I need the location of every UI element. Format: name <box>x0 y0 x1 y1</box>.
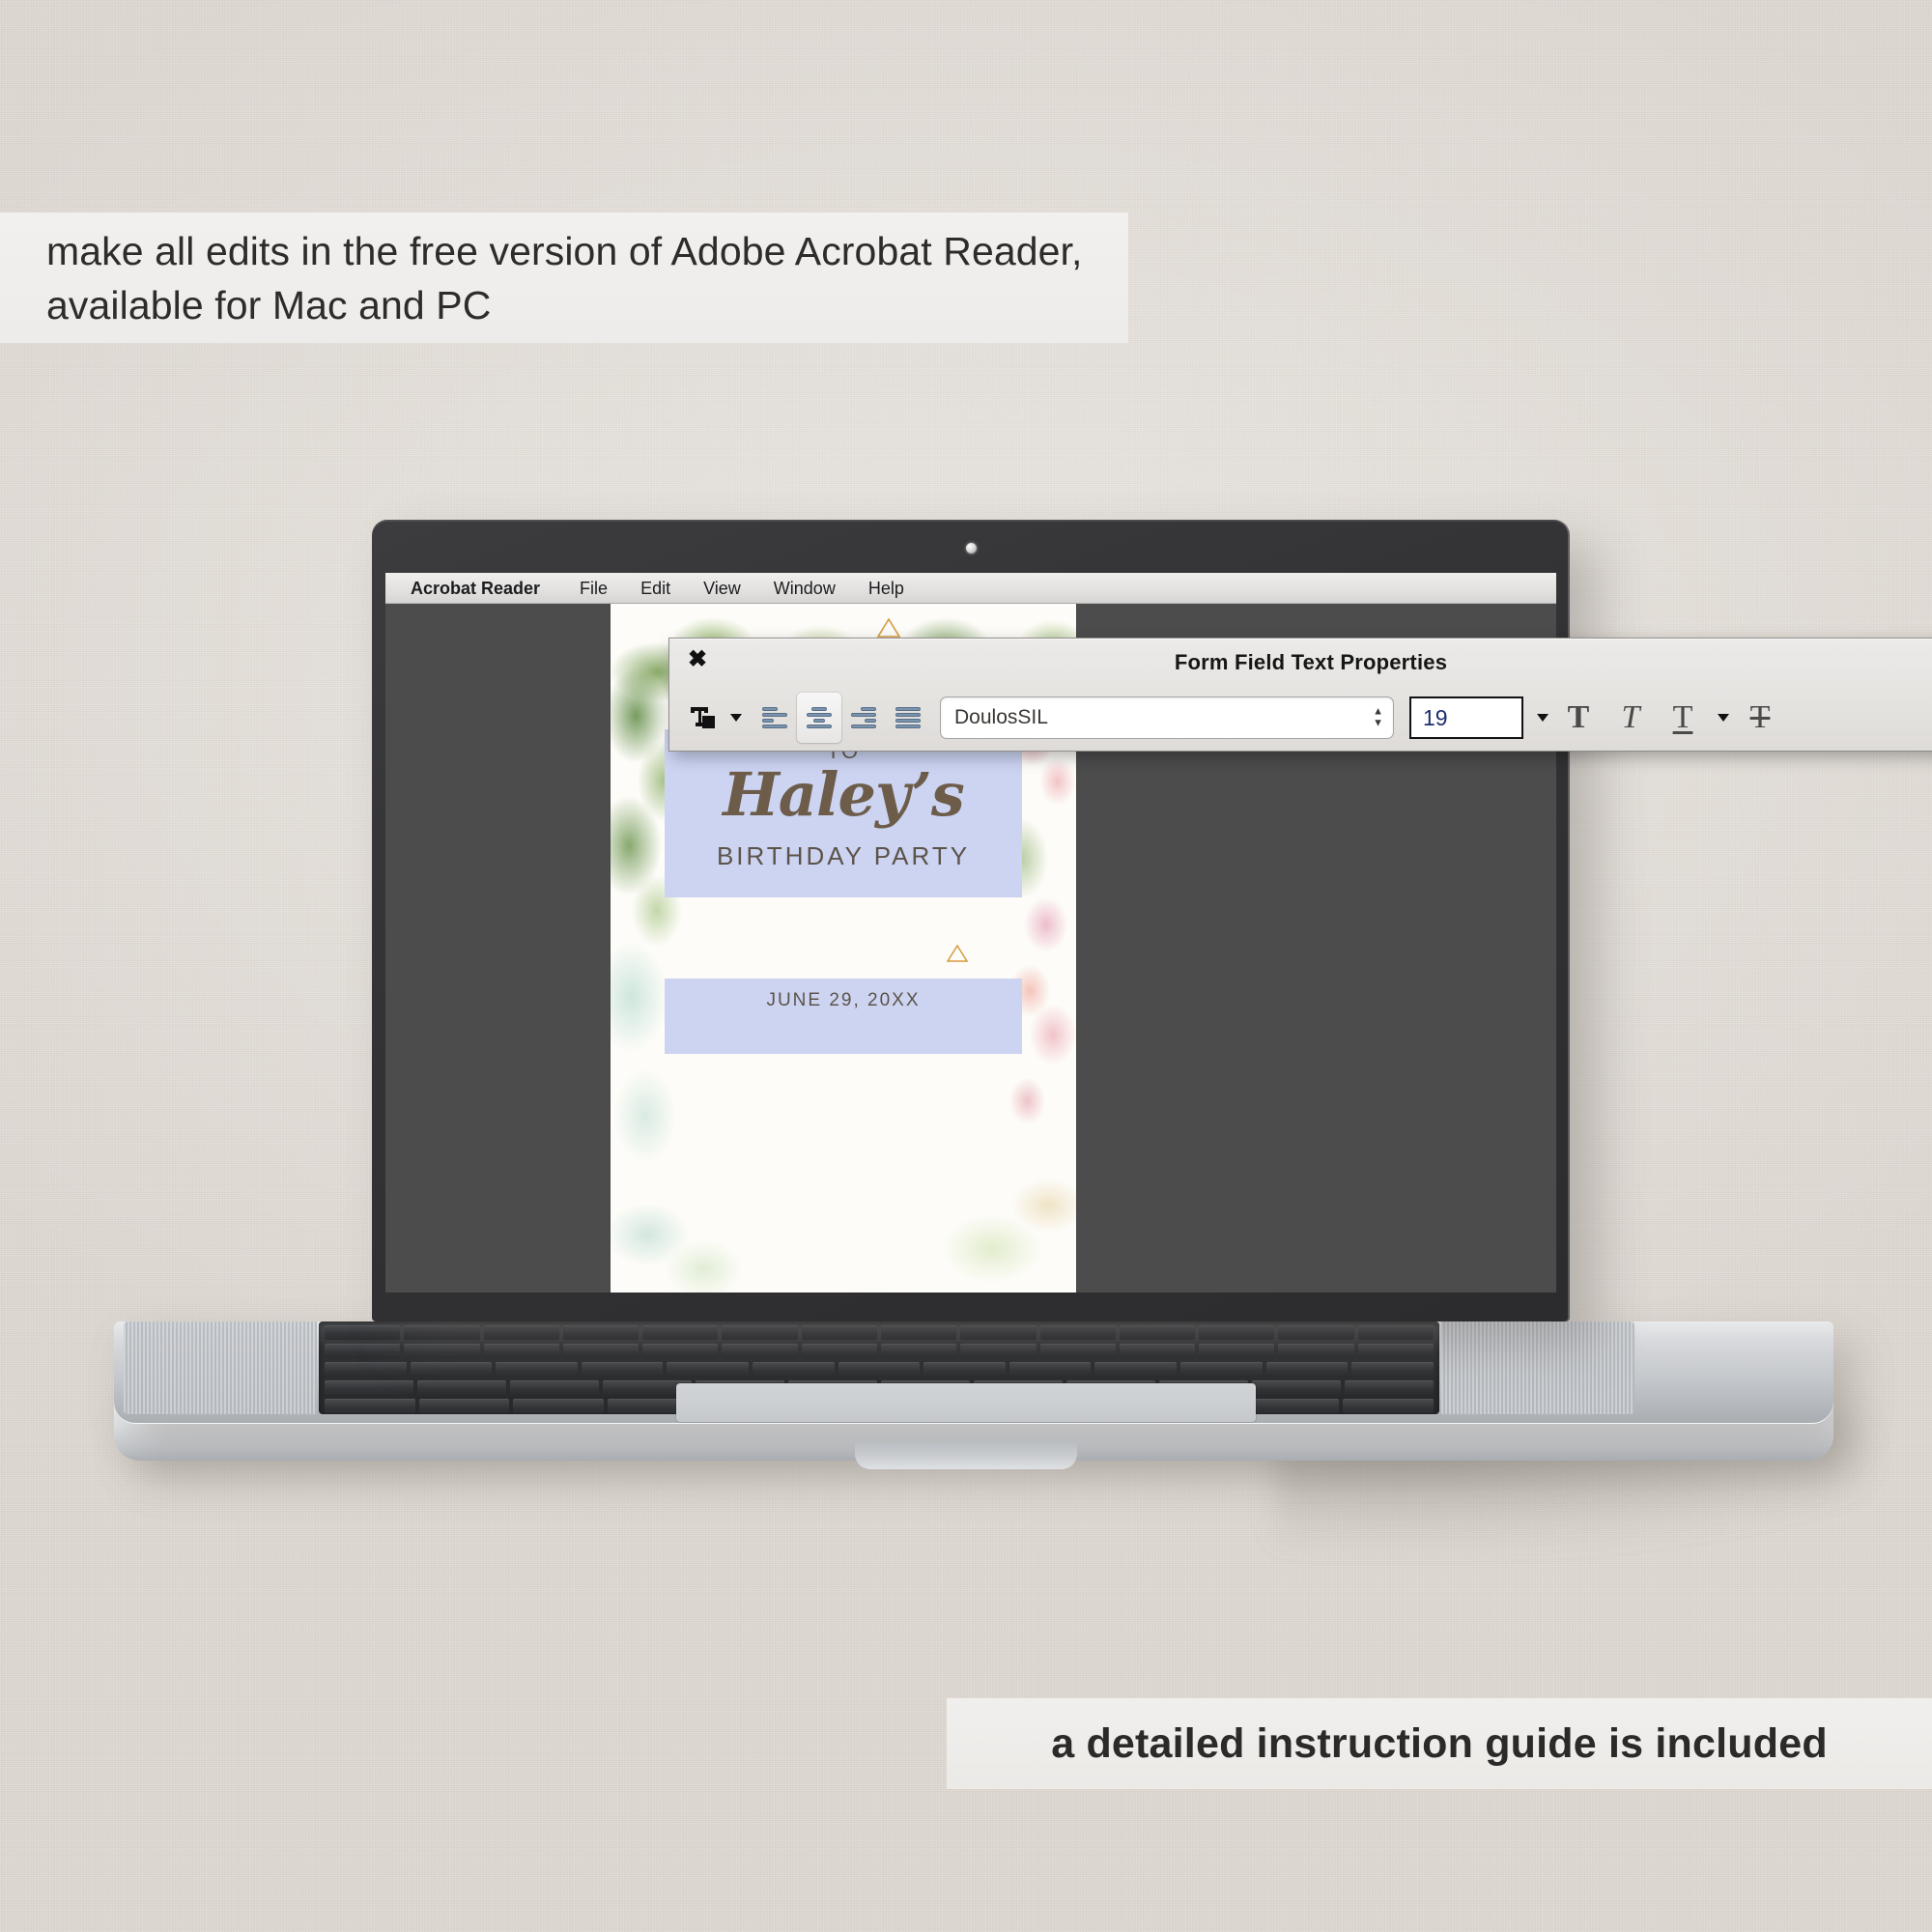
menu-item-window[interactable]: Window <box>757 573 852 604</box>
keyboard-row <box>319 1344 1439 1358</box>
scene: make all edits in the free version of Ad… <box>0 0 1932 1932</box>
key <box>1345 1380 1434 1395</box>
bottom-caption-banner: a detailed instruction guide is included <box>947 1698 1932 1789</box>
align-left-icon <box>762 707 787 728</box>
align-right-button[interactable] <box>841 693 886 743</box>
key <box>1199 1344 1274 1358</box>
align-left-button[interactable] <box>753 693 797 743</box>
invite-name[interactable]: Haley’s <box>611 760 1076 830</box>
key <box>1252 1380 1341 1395</box>
floral-decoration-bottom <box>611 1148 1076 1293</box>
menu-item-file[interactable]: File <box>563 573 624 604</box>
key <box>325 1362 407 1377</box>
key <box>563 1325 639 1340</box>
font-size-input[interactable]: 19 <box>1409 696 1523 739</box>
key <box>1120 1344 1195 1358</box>
dialog-toolbar: DoulosSIL ▲ ▼ 19 T T T T <box>669 685 1932 751</box>
menu-item-view[interactable]: View <box>687 573 757 604</box>
key <box>1278 1325 1353 1340</box>
font-family-value: DoulosSIL <box>954 706 1048 729</box>
align-justify-icon <box>895 707 921 728</box>
speaker-grille-right <box>1441 1321 1634 1414</box>
key <box>1199 1325 1274 1340</box>
key <box>1040 1325 1116 1340</box>
key <box>404 1344 479 1358</box>
bold-button[interactable]: T <box>1552 693 1605 743</box>
key <box>960 1344 1036 1358</box>
key <box>722 1344 797 1358</box>
strikethrough-button[interactable]: T <box>1734 693 1786 743</box>
key <box>802 1325 877 1340</box>
key <box>1343 1399 1434 1413</box>
chevron-down-icon <box>1537 714 1548 722</box>
key <box>484 1325 559 1340</box>
key <box>1358 1344 1434 1358</box>
key <box>1180 1362 1263 1377</box>
chevron-up-icon: ▲ <box>1373 708 1383 717</box>
key <box>722 1325 797 1340</box>
bottom-caption-text: a detailed instruction guide is included <box>1051 1720 1828 1768</box>
key <box>1009 1362 1092 1377</box>
key <box>753 1362 835 1377</box>
key <box>513 1399 604 1413</box>
gold-triangle-icon <box>876 617 901 639</box>
key <box>325 1344 400 1358</box>
menubar: Acrobat Reader File Edit View Window Hel… <box>385 573 1556 604</box>
key <box>838 1362 921 1377</box>
key <box>510 1380 599 1395</box>
key <box>923 1362 1006 1377</box>
key <box>642 1325 718 1340</box>
key <box>484 1344 559 1358</box>
key <box>419 1399 510 1413</box>
font-family-select[interactable]: DoulosSIL ▲ ▼ <box>940 696 1394 739</box>
key <box>642 1344 718 1358</box>
key <box>404 1325 479 1340</box>
key <box>1358 1325 1434 1340</box>
key <box>1278 1344 1353 1358</box>
menu-item-acrobat-reader[interactable]: Acrobat Reader <box>411 573 563 604</box>
key <box>582 1362 664 1377</box>
underline-dropdown[interactable] <box>1709 693 1734 743</box>
laptop-mockup: Acrobat Reader File Edit View Window Hel… <box>0 0 1932 1932</box>
key <box>417 1380 506 1395</box>
align-center-button[interactable] <box>797 693 841 743</box>
font-size-value: 19 <box>1423 705 1448 731</box>
key <box>960 1325 1036 1340</box>
align-justify-button[interactable] <box>886 693 930 743</box>
key <box>496 1362 578 1377</box>
align-center-icon <box>807 707 832 728</box>
key <box>1266 1362 1349 1377</box>
key <box>1120 1325 1195 1340</box>
dialog-title: Form Field Text Properties <box>669 650 1932 675</box>
chevron-down-icon <box>730 714 742 722</box>
keyboard-row <box>319 1325 1439 1340</box>
speaker-grille-left <box>124 1321 317 1414</box>
key <box>563 1344 639 1358</box>
form-field-text-properties-dialog[interactable]: ✖ Form Field Text Properties <box>668 638 1932 752</box>
key <box>881 1325 956 1340</box>
stepper-up-down-icon[interactable]: ▲ ▼ <box>1373 708 1383 728</box>
menu-item-help[interactable]: Help <box>852 573 921 604</box>
key <box>881 1344 956 1358</box>
key <box>1249 1399 1340 1413</box>
key <box>325 1325 400 1340</box>
font-size-dropdown[interactable] <box>1523 693 1552 743</box>
key <box>1094 1362 1177 1377</box>
key <box>325 1399 415 1413</box>
key <box>1351 1362 1434 1377</box>
key <box>411 1362 493 1377</box>
text-properties-button[interactable] <box>683 693 722 743</box>
trackpad <box>676 1383 1256 1422</box>
italic-button[interactable]: T <box>1605 693 1657 743</box>
invite-event[interactable]: BIRTHDAY PARTY <box>611 841 1076 871</box>
webcam-icon <box>966 543 977 554</box>
lid-open-notch <box>855 1442 1077 1469</box>
chevron-down-icon <box>1718 714 1729 722</box>
key <box>802 1344 877 1358</box>
key <box>667 1362 749 1377</box>
menu-item-edit[interactable]: Edit <box>624 573 687 604</box>
keyboard-row <box>319 1362 1439 1377</box>
chevron-down-icon: ▼ <box>1373 720 1383 728</box>
key <box>1040 1344 1116 1358</box>
text-properties-icon <box>688 703 717 732</box>
dialog-titlebar[interactable]: ✖ Form Field Text Properties <box>669 639 1932 685</box>
gold-triangle-icon <box>946 944 969 963</box>
underline-button[interactable]: T <box>1657 693 1709 743</box>
invite-date[interactable]: JUNE 29, 20XX <box>611 990 1076 1011</box>
align-right-icon <box>851 707 876 728</box>
key <box>325 1380 413 1395</box>
text-properties-dropdown[interactable] <box>722 693 747 743</box>
